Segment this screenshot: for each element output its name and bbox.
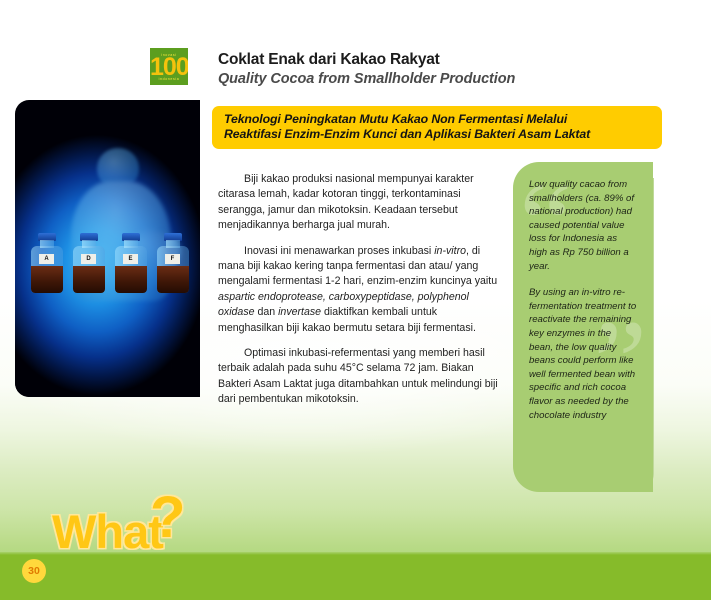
what-question-mark: ? <box>150 489 185 547</box>
p2-seg-3: dan <box>255 306 279 318</box>
page-title: Coklat Enak dari Kakao Rakyat <box>218 50 668 69</box>
technology-banner: Teknologi Peningkatan Mutu Kakao Non Fer… <box>212 106 662 149</box>
bottle-row: A D E <box>31 227 189 293</box>
bottle-3: E <box>115 233 147 293</box>
bottle-4: F <box>157 233 189 293</box>
quote-paragraph-2: By using an in-vitro re-fermentation tre… <box>529 286 637 422</box>
bottle-liquid <box>73 266 105 293</box>
quote-panel: “ ” Low quality cacao from smallholders … <box>513 162 653 492</box>
bottle-liquid <box>115 266 147 293</box>
logo-bottom-text: indonesia <box>150 77 188 81</box>
banner-line-2: Reaktifasi Enzim-Enzim Kunci dan Aplikas… <box>224 127 650 142</box>
what-heading: What <box>52 508 163 555</box>
inovasi-100-indonesia-logo: inovasi 100 indonesia <box>150 48 188 85</box>
p2-seg-1: Inovasi ini menawarkan proses inkubasi <box>244 245 434 257</box>
quote-text-block: Low quality cacao from smallholders (ca.… <box>529 178 637 435</box>
bottle-label: F <box>165 254 180 264</box>
p2-italic-1: in-vitro <box>434 245 466 257</box>
page-number-badge: 30 <box>22 559 46 583</box>
body-paragraph-2: Inovasi ini menawarkan proses inkubasi i… <box>218 244 502 336</box>
p2-italic-3: invertase <box>278 306 321 318</box>
bottle-label: D <box>81 254 96 264</box>
bottom-green-band <box>0 555 711 600</box>
bottle-label: E <box>123 254 138 264</box>
page-subtitle: Quality Cocoa from Smallholder Productio… <box>218 70 668 89</box>
page-canvas: A D E <box>0 0 711 600</box>
lab-photo: A D E <box>15 100 200 397</box>
banner-line-1: Teknologi Peningkatan Mutu Kakao Non Fer… <box>224 112 650 127</box>
body-paragraph-1: Biji kakao produksi nasional mempunyai k… <box>218 172 502 234</box>
bottle-2: D <box>73 233 105 293</box>
bottle-1: A <box>31 233 63 293</box>
bottle-label: A <box>39 254 54 264</box>
body-text-column: Biji kakao produksi nasional mempunyai k… <box>218 172 502 418</box>
title-block: Coklat Enak dari Kakao Rakyat Quality Co… <box>218 50 668 89</box>
body-paragraph-3: Optimasi inkubasi-refermentasi yang memb… <box>218 346 502 408</box>
quote-paragraph-1: Low quality cacao from smallholders (ca.… <box>529 178 637 273</box>
bottle-liquid <box>157 266 189 293</box>
bottle-liquid <box>31 266 63 293</box>
